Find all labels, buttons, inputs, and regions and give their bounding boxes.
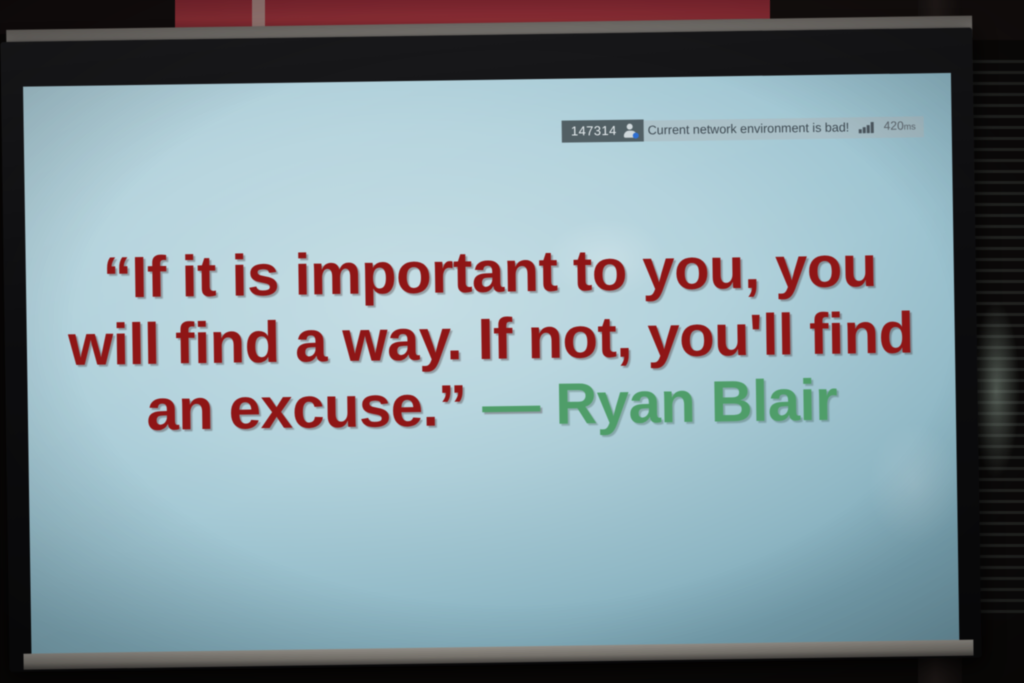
quote-author: Ryan Blair <box>555 368 838 437</box>
stream-status-overlay: 147314 Current network environment is ba… <box>562 115 924 142</box>
latency-unit: ms <box>904 121 916 131</box>
viewer-count-label: 147314 <box>571 120 617 143</box>
network-status-bar: Current network environment is bad! 420m… <box>644 116 924 141</box>
attribution-dash: — <box>466 372 556 438</box>
screen-reflection-secondary <box>868 423 959 544</box>
network-message: Current network environment is bad! <box>648 117 850 141</box>
signal-bars-icon <box>859 122 874 133</box>
quote-line-3: an excuse.” — Ryan Blair <box>67 367 916 446</box>
quote-line-3-text: an excuse.” <box>146 374 467 444</box>
display-screen: “If it is important to you, you will fin… <box>23 73 960 667</box>
room-scene: “If it is important to you, you will fin… <box>0 0 1024 683</box>
quote-line-1: “If it is important to you, you <box>65 233 914 312</box>
person-icon <box>624 124 637 138</box>
flat-panel-display: “If it is important to you, you will fin… <box>0 3 988 674</box>
display-bezel: “If it is important to you, you will fin… <box>0 28 981 672</box>
quote-line-2: will find a way. If not, you'll find <box>66 300 915 379</box>
quote-slide: “If it is important to you, you will fin… <box>25 233 956 447</box>
latency-readout: 420ms <box>884 115 916 137</box>
latency-value: 420 <box>884 119 904 133</box>
viewer-count-badge: 147314 <box>562 119 644 142</box>
